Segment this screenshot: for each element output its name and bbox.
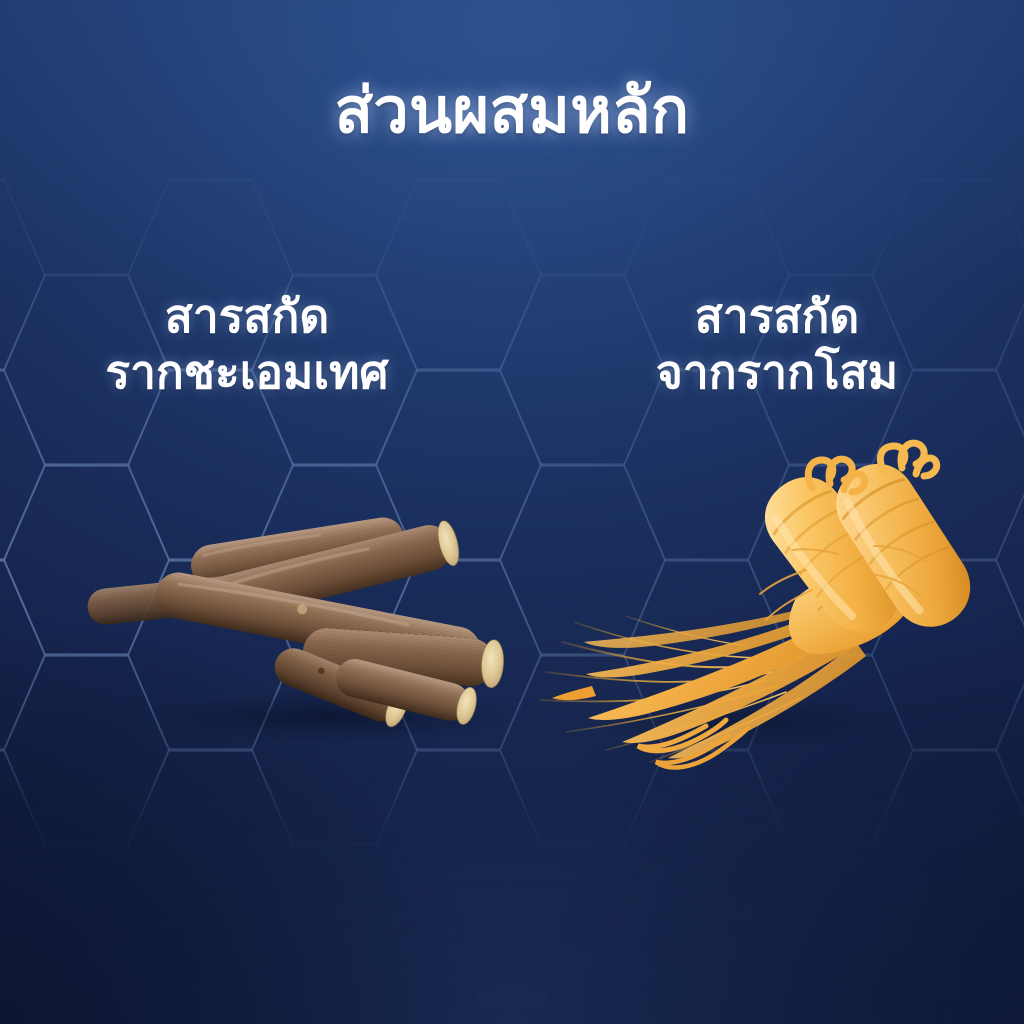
ingredient-label-licorice-line1: สารสกัด: [0, 288, 494, 344]
background-corner-shading: [0, 0, 1024, 1024]
ingredient-label-ginseng-line2: จากรากโสม: [530, 344, 1024, 400]
ingredient-banner: ส่วนผสมหลัก สารสกัด รากชะเอมเทศ สารสกัด …: [0, 0, 1024, 1024]
ingredient-column-licorice: สารสกัด รากชะเอมเทศ: [0, 288, 508, 400]
ingredient-column-ginseng: สารสกัด จากรากโสม: [508, 288, 1024, 400]
ingredient-label-ginseng: สารสกัด จากรากโสม: [530, 288, 1024, 400]
ingredient-label-licorice: สารสกัด รากชะเอมเทศ: [0, 288, 494, 400]
page-title: ส่วนผสมหลัก: [0, 78, 1024, 144]
ingredient-columns: สารสกัด รากชะเอมเทศ สารสกัด จากรากโสม: [0, 288, 1024, 400]
ingredient-label-ginseng-line1: สารสกัด: [530, 288, 1024, 344]
ingredient-label-licorice-line2: รากชะเอมเทศ: [0, 344, 494, 400]
